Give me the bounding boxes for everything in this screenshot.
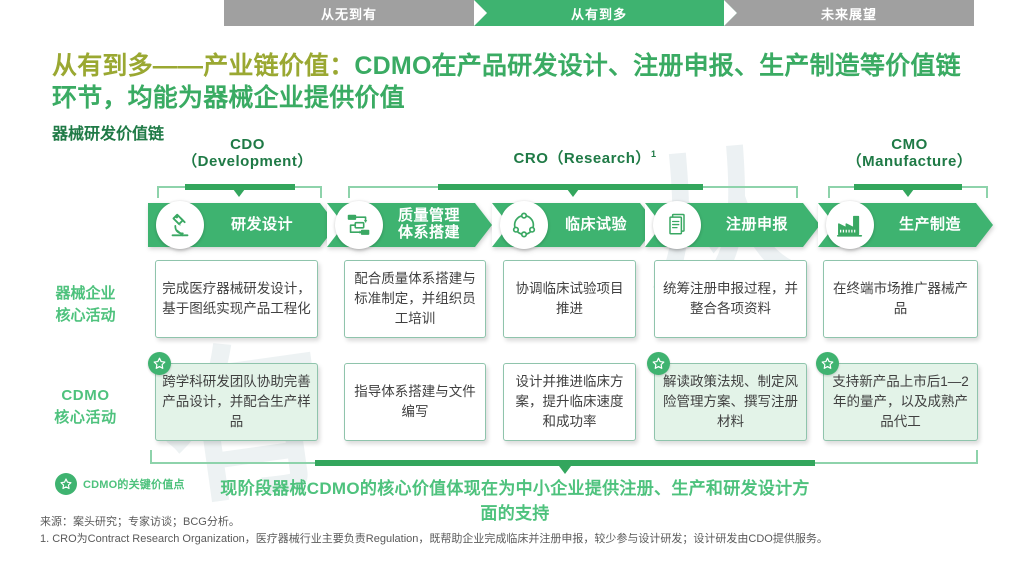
molecule-icon: [500, 201, 548, 249]
tab-label: 从无到有: [321, 4, 377, 23]
stage-label: 生产制造: [884, 216, 976, 233]
key-value-star-icon: [148, 352, 171, 375]
table-cell: 支持新产品上市后1—2年的量产，以及成熟产品代工: [823, 363, 978, 441]
page-title: 从有到多——产业链价值：CDMO在产品研发设计、注册申报、生产制造等价值链环节，…: [52, 50, 982, 114]
stage-rd-design[interactable]: 研发设计: [148, 203, 320, 247]
table-cell: 指导体系搭建与文件编写: [344, 363, 486, 441]
row-label-cdmo: CDMO 核心活动: [33, 385, 138, 429]
chevron-right-icon: [976, 203, 993, 247]
phase-title: CRO（Research）: [514, 150, 651, 167]
summary-statement: 现阶段器械CDMO的核心价值体现在为中小企业提供注册、生产和研发设计方面的支持: [215, 476, 815, 526]
tab-label: 从有到多: [571, 4, 627, 23]
table-cell: 统筹注册申报过程，并整合各项资料: [654, 260, 807, 338]
page-title-segment-a: 从有到多——产业链价值：: [52, 52, 354, 80]
bracket-cdo: [157, 178, 322, 200]
section-tabstrip[interactable]: 从无到有 从有到多 未来展望: [224, 0, 974, 26]
key-value-star-icon: [816, 352, 839, 375]
tab-from-few-to-many[interactable]: 从有到多: [474, 0, 724, 26]
chevron-notch-icon: [724, 0, 737, 26]
phase-header-cmo: CMO （Manufacture）: [812, 136, 1007, 171]
phase-title: CDO: [150, 136, 345, 153]
table-cell: 在终端市场推广器械产品: [823, 260, 978, 338]
phase-header-cdo: CDO （Development）: [150, 136, 345, 171]
footnote-1: 1. CRO为Contract Research Organization，医疗…: [40, 531, 990, 548]
legend-key-value-point: CDMO的关键价值点: [55, 473, 185, 495]
slide-canvas: 从 有 从无到有 从有到多 未来展望 从有到多——产业链价值：CDMO在产品研发…: [0, 0, 1024, 576]
stage-label: 质量管理 体系搭建: [383, 207, 475, 241]
stage-label: 注册申报: [711, 216, 803, 233]
documents-icon: [653, 201, 701, 249]
key-value-star-icon: [647, 352, 670, 375]
phase-subtitle: （Manufacture）: [812, 153, 1007, 171]
table-cell: 跨学科研发团队协助完善产品设计，并配合生产样品: [155, 363, 318, 441]
stage-clinical-trial[interactable]: 临床试验: [492, 203, 640, 247]
legend-label: CDMO的关键价值点: [83, 476, 185, 492]
factory-icon: [826, 201, 874, 249]
tab-future-outlook[interactable]: 未来展望: [724, 0, 974, 26]
phase-subtitle: （Development）: [150, 153, 345, 171]
stage-label: 研发设计: [212, 216, 312, 233]
stage-manufacturing[interactable]: 生产制造: [818, 203, 976, 247]
table-cell: 解读政策法规、制定风险管理方案、撰写注册材料: [654, 363, 807, 441]
microscope-icon: [156, 201, 204, 249]
phase-title: CMO: [812, 136, 1007, 153]
bracket-cro: [348, 178, 798, 200]
page-subtitle: 器械研发价值链: [52, 120, 164, 144]
chevron-right-icon: [475, 203, 492, 247]
table-cell: 协调临床试验项目推进: [503, 260, 636, 338]
stage-quality-system[interactable]: 质量管理 体系搭建: [327, 203, 475, 247]
stage-registration[interactable]: 注册申报: [645, 203, 803, 247]
stage-label: 临床试验: [552, 216, 640, 233]
footnote-marker: 1: [651, 149, 657, 159]
row-label-enterprise: 器械企业 核心活动: [33, 283, 138, 327]
tab-label: 未来展望: [821, 4, 877, 23]
bracket-cmo: [828, 178, 988, 200]
phase-header-cro: CRO（Research）1: [435, 146, 735, 167]
chevron-notch-icon: [474, 0, 487, 26]
flowchart-icon: [335, 201, 383, 249]
star-badge-icon: [55, 473, 77, 495]
table-cell: 配合质量体系搭建与标准制定，并组织员工培训: [344, 260, 486, 338]
table-cell: 完成医疗器械研发设计，基于图纸实现产品工程化: [155, 260, 318, 338]
tab-from-nothing[interactable]: 从无到有: [224, 0, 474, 26]
table-cell: 设计并推进临床方案，提升临床速度和成功率: [503, 363, 636, 441]
source-note: 来源：案头研究；专家访谈；BCG分析。: [40, 514, 240, 531]
